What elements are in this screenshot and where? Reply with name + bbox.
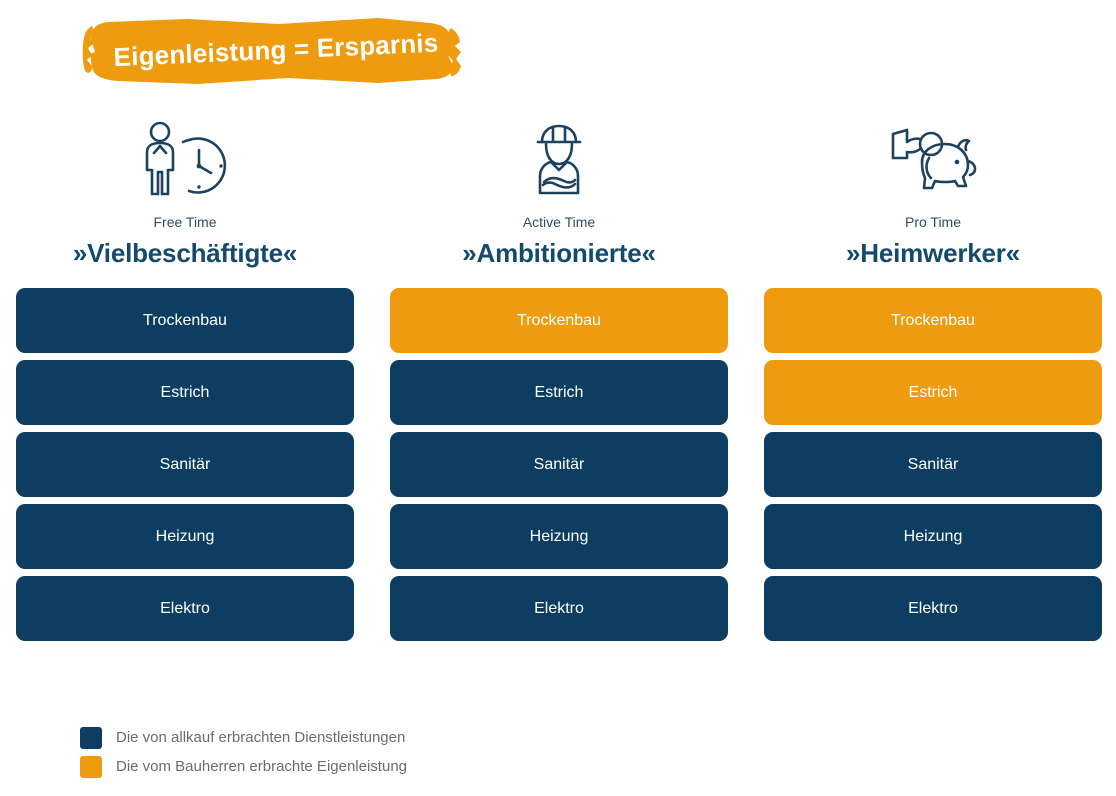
service-bar[interactable]: Trockenbau <box>16 288 354 353</box>
persona-columns: Free Time »Vielbeschäftigte« Trockenbau … <box>16 118 1102 641</box>
service-bar[interactable]: Estrich <box>16 360 354 425</box>
service-bar-list: Trockenbau Estrich Sanitär Heizung Elekt… <box>390 288 728 641</box>
service-bar[interactable]: Sanitär <box>764 432 1102 497</box>
persona-title: »Ambitionierte« <box>390 237 728 270</box>
legend-swatch-navy <box>80 727 102 749</box>
legend-item-self-work: Die vom Bauherren erbrachte Eigenleistun… <box>80 756 407 778</box>
service-bar[interactable]: Sanitär <box>16 432 354 497</box>
service-bar[interactable]: Trockenbau <box>764 288 1102 353</box>
legend: Die von allkauf erbrachten Dienstleistun… <box>80 727 407 778</box>
service-bar[interactable]: Estrich <box>764 360 1102 425</box>
service-bar[interactable]: Elektro <box>16 576 354 641</box>
service-bar[interactable]: Heizung <box>764 504 1102 569</box>
service-bar[interactable]: Heizung <box>390 504 728 569</box>
worker-hardhat-icon <box>390 118 728 200</box>
legend-label: Die vom Bauherren erbrachte Eigenleistun… <box>116 758 407 776</box>
persona-column-vielbeschaeftigte: Free Time »Vielbeschäftigte« Trockenbau … <box>16 118 354 641</box>
service-bar[interactable]: Sanitär <box>390 432 728 497</box>
service-bar[interactable]: Elektro <box>390 576 728 641</box>
service-bar[interactable]: Trockenbau <box>390 288 728 353</box>
service-bar[interactable]: Elektro <box>764 576 1102 641</box>
persona-column-ambitionierte: Active Time »Ambitionierte« Trockenbau E… <box>390 118 728 641</box>
service-bar-list: Trockenbau Estrich Sanitär Heizung Elekt… <box>16 288 354 641</box>
legend-label: Die von allkauf erbrachten Dienstleistun… <box>116 729 405 747</box>
legend-item-services: Die von allkauf erbrachten Dienstleistun… <box>80 727 407 749</box>
service-bar[interactable]: Estrich <box>390 360 728 425</box>
persona-title: »Heimwerker« <box>764 237 1102 270</box>
headline-banner: Eigenleistung = Ersparnis <box>78 14 468 86</box>
persona-column-heimwerker: Pro Time »Heimwerker« Trockenbau Estrich… <box>764 118 1102 641</box>
piggy-bank-icon <box>764 118 1102 200</box>
persona-subtitle: Free Time <box>16 214 354 231</box>
person-with-clock-icon <box>16 118 354 200</box>
service-bar-list: Trockenbau Estrich Sanitär Heizung Elekt… <box>764 288 1102 641</box>
service-bar[interactable]: Heizung <box>16 504 354 569</box>
persona-subtitle: Active Time <box>390 214 728 231</box>
legend-swatch-orange <box>80 756 102 778</box>
persona-subtitle: Pro Time <box>764 214 1102 231</box>
persona-title: »Vielbeschäftigte« <box>16 237 354 270</box>
